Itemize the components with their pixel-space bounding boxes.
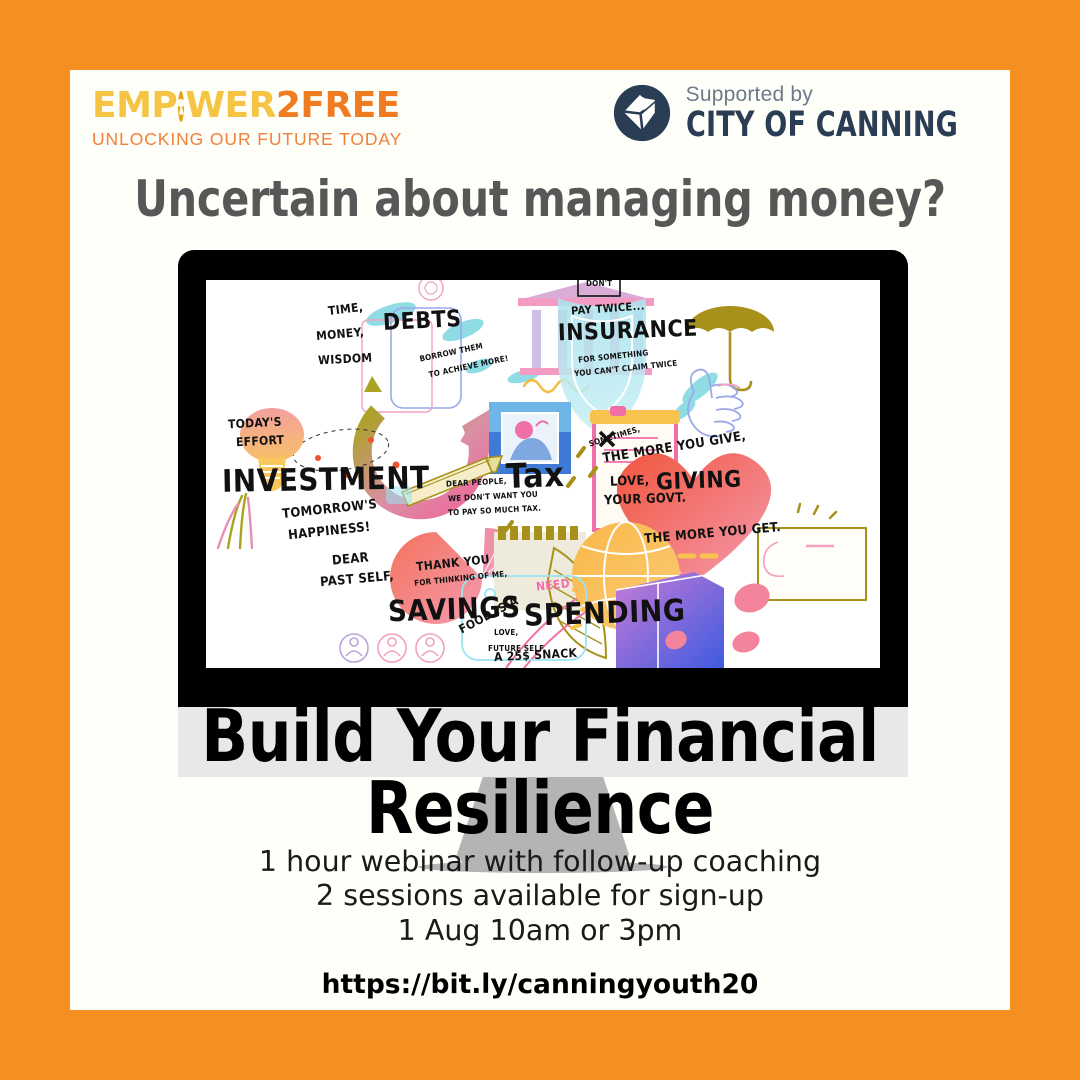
poster-inner-panel: EMP WER 2FREE UNLOCKING OUR FUTURE TODAY…: [70, 70, 1010, 1010]
monitor-bezel: TIME, MONEY, WISDOM DEBTS BORROW THEM TO…: [178, 250, 908, 707]
event-details: 1 hour webinar with follow-up coaching 2…: [70, 845, 1010, 1000]
label-love-future1: LOVE,: [494, 628, 518, 637]
city-of-canning-crest-icon: [611, 82, 673, 144]
empower2free-logo: EMP WER 2FREE UNLOCKING OUR FUTURE TODAY: [92, 88, 362, 150]
empower2free-part2: WER: [185, 88, 276, 124]
label-love-govt1: LOVE,: [610, 473, 650, 489]
label-spending: SPENDING: [523, 593, 686, 634]
supported-by-label: Supported by: [686, 84, 1002, 105]
city-of-canning-text: Supported by CITY OF CANNING: [686, 84, 1002, 143]
label-dont: DON'T: [586, 280, 612, 288]
label-debts: DEBTS: [382, 306, 462, 336]
detail-line-2: 2 sessions available for sign-up: [70, 879, 1010, 913]
label-effort: EFFORT: [236, 433, 285, 450]
label-wisdom: WISDOM: [318, 351, 373, 368]
empower2free-tagline: UNLOCKING OUR FUTURE TODAY: [92, 129, 362, 150]
empower2free-wordmark: EMP WER 2FREE: [92, 88, 362, 124]
main-title: Build Your Financial Resilience: [94, 700, 987, 844]
signup-link[interactable]: https://bit.ly/canningyouth20: [70, 969, 1010, 1000]
headline-question: Uncertain about managing money?: [108, 170, 973, 228]
city-of-canning-logo: Supported by CITY OF CANNING: [611, 82, 1002, 144]
monitor-screen: TIME, MONEY, WISDOM DEBTS BORROW THEM TO…: [206, 280, 880, 668]
empower2free-part1: EMP: [92, 88, 177, 124]
poster-canvas: EMP WER 2FREE UNLOCKING OUR FUTURE TODAY…: [0, 0, 1080, 1080]
detail-line-3: 1 Aug 10am or 3pm: [70, 914, 1010, 948]
financial-doodle-illustration: TIME, MONEY, WISDOM DEBTS BORROW THEM TO…: [206, 280, 880, 668]
lock-keyhole-icon: [178, 91, 184, 122]
label-insurance: INSURANCE: [558, 316, 699, 347]
label-todays: TODAY'S: [228, 415, 282, 432]
city-of-canning-name: CITY OF CANNING: [686, 108, 958, 143]
label-dear: DEAR: [331, 550, 369, 568]
label-giving: GIVING: [656, 467, 743, 496]
label-investment: INVESTMENT: [222, 460, 430, 500]
detail-line-1: 1 hour webinar with follow-up coaching: [70, 845, 1010, 879]
empower2free-part3: 2FREE: [276, 88, 400, 124]
